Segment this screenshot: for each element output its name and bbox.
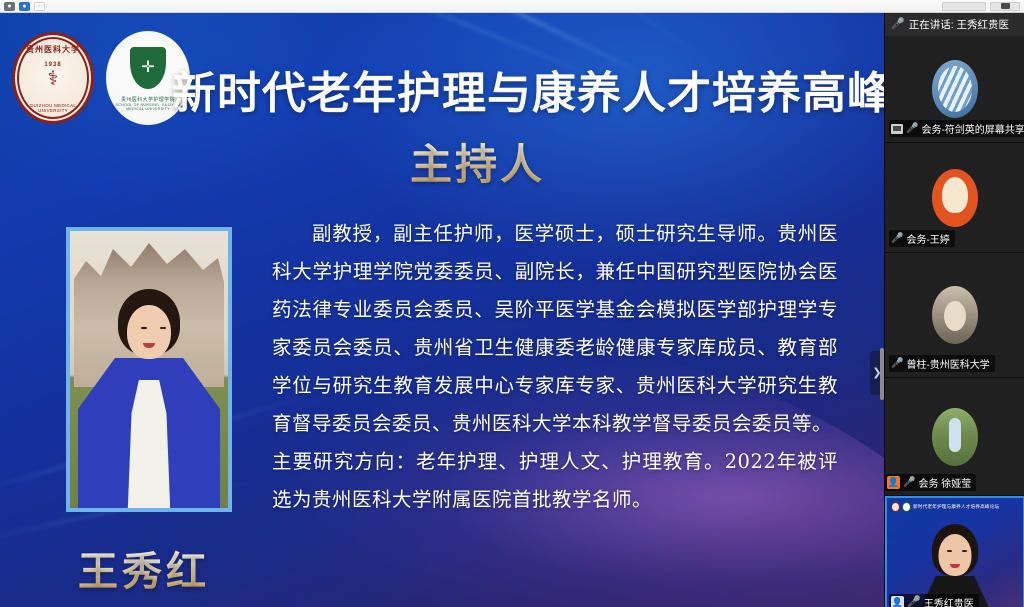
participant-tiles: 🎤 会务-符剑英的屏幕共享 🎤 会务-王婷 🎤 曾柱-贵州医科大学 <box>885 36 1024 607</box>
light-beam <box>455 13 705 59</box>
mic-muted-icon: 🎤 <box>906 124 918 134</box>
participant-name: 会务 徐娅莹 <box>918 475 971 490</box>
participant-tile-zeng-zhu[interactable]: 🎤 曾柱-贵州医科大学 <box>885 253 1024 378</box>
nursing-school-logo <box>902 502 911 512</box>
mic-muted-icon: 🎤 <box>891 359 903 369</box>
bio-paragraph-2: 主要研究方向：老年护理、护理人文、护理教育。2022年被评选为贵州医科大学附属医… <box>272 443 838 519</box>
participant-name: 王秀红贵医 <box>924 595 974 607</box>
active-speaker-banner: 🎤 正在讲话: 王秀红贵医 <box>885 13 1024 36</box>
mic-active-icon: 🎤 <box>907 597 921 607</box>
meeting-screen-share-view: ● ● ⋯ 贵州医科大学 1938 ⚕ GUIZHOU <box>0 0 1024 607</box>
video-overlay-banner: 新时代老年护理与康养人才培养高峰论坛 <box>891 501 1019 513</box>
shield-icon <box>130 47 166 89</box>
logo-top-text: 贵州医科大学 <box>15 44 91 55</box>
participant-tile-screen-share[interactable]: 🎤 会务-符剑英的屏幕共享 <box>885 36 1024 143</box>
participant-namebar: 🎤 会务-王婷 <box>889 230 955 247</box>
mic-active-icon: 🎤 <box>891 19 905 30</box>
participant-tile-wang-xiuhong[interactable]: 新时代老年护理与康养人才培养高峰论坛 👤 🎤 王秀红贵医 <box>885 496 1024 607</box>
screen-share-thumbnail <box>932 60 978 118</box>
user-icon[interactable]: ● <box>4 2 15 11</box>
logo-bottom-text: GUIZHOU MEDICAL UNIVERSITY <box>15 103 91 113</box>
shared-screen-stage: 贵州医科大学 1938 ⚕ GUIZHOU MEDICAL UNIVERSITY… <box>0 13 884 607</box>
speaker-bio: 副教授，副主任护师，医学硕士，硕士研究生导师。贵州医科大学护理学院党委委员、副院… <box>272 215 838 519</box>
participant-namebar: 🎤 曾柱-贵州医科大学 <box>889 355 995 372</box>
participant-rail: 🎤 正在讲话: 王秀红贵医 🎤 会务-符剑英的屏幕共享 🎤 会务-王婷 <box>884 13 1024 607</box>
participant-namebar: 👤 🎤 会务 徐娅莹 <box>885 474 976 491</box>
photo-avatar <box>932 286 978 344</box>
participant-tile-wang-ting[interactable]: 🎤 会务-王婷 <box>885 143 1024 253</box>
active-speaker-label: 正在讲话: 王秀红贵医 <box>909 17 1009 32</box>
guizhou-medical-university-logo: 贵州医科大学 1938 ⚕ GUIZHOU MEDICAL UNIVERSITY <box>12 32 94 124</box>
screen-share-icon <box>891 124 903 134</box>
mic-muted-icon: 🎤 <box>903 478 915 488</box>
toolbar-left-group: ● ● ⋯ <box>4 2 45 11</box>
participant-name: 曾柱-贵州医科大学 <box>906 356 989 371</box>
toolbar-right-group <box>942 2 1020 11</box>
page-title: 新时代老年护理与康养人才培养高峰论坛 <box>172 57 862 121</box>
caduceus-icon: ⚕ <box>48 69 59 89</box>
speaker-name: 王秀红 <box>78 539 210 597</box>
landscape-avatar <box>932 408 978 466</box>
browser-icon[interactable]: ● <box>19 2 30 11</box>
mic-muted-icon: 🎤 <box>891 234 903 244</box>
guizhou-medical-university-logo <box>891 502 900 512</box>
video-overlay-title: 新时代老年护理与康养人才培养高峰论坛 <box>913 504 999 510</box>
participant-namebar: 👤 🎤 王秀红贵医 <box>889 594 979 607</box>
host-badge-icon: 👤 <box>887 476 900 489</box>
toolbar-button[interactable] <box>942 2 986 11</box>
participant-name: 会务-王婷 <box>906 231 949 246</box>
app-toolbar: ● ● ⋯ <box>0 0 1024 13</box>
participant-tile-xu-yaying[interactable]: 👤 🎤 会务 徐娅莹 <box>885 378 1024 496</box>
minimize-button[interactable] <box>990 2 1020 11</box>
host-badge-icon: 👤 <box>891 596 904 607</box>
extension-icon[interactable]: ⋯ <box>34 2 45 11</box>
orange-avatar <box>932 169 978 227</box>
logo-group: 贵州医科大学 1938 ⚕ GUIZHOU MEDICAL UNIVERSITY… <box>12 31 190 125</box>
participant-namebar: 🎤 会务-符剑英的屏幕共享 <box>889 120 1024 137</box>
page-subtitle: 主持人 <box>410 131 545 192</box>
speaker-portrait <box>66 227 232 512</box>
participant-name: 会务-符剑英的屏幕共享 <box>921 121 1024 136</box>
bio-paragraph-1: 副教授，副主任护师，医学硕士，硕士研究生导师。贵州医科大学护理学院党委委员、副院… <box>272 215 838 443</box>
rail-scrollbar[interactable] <box>880 348 884 400</box>
